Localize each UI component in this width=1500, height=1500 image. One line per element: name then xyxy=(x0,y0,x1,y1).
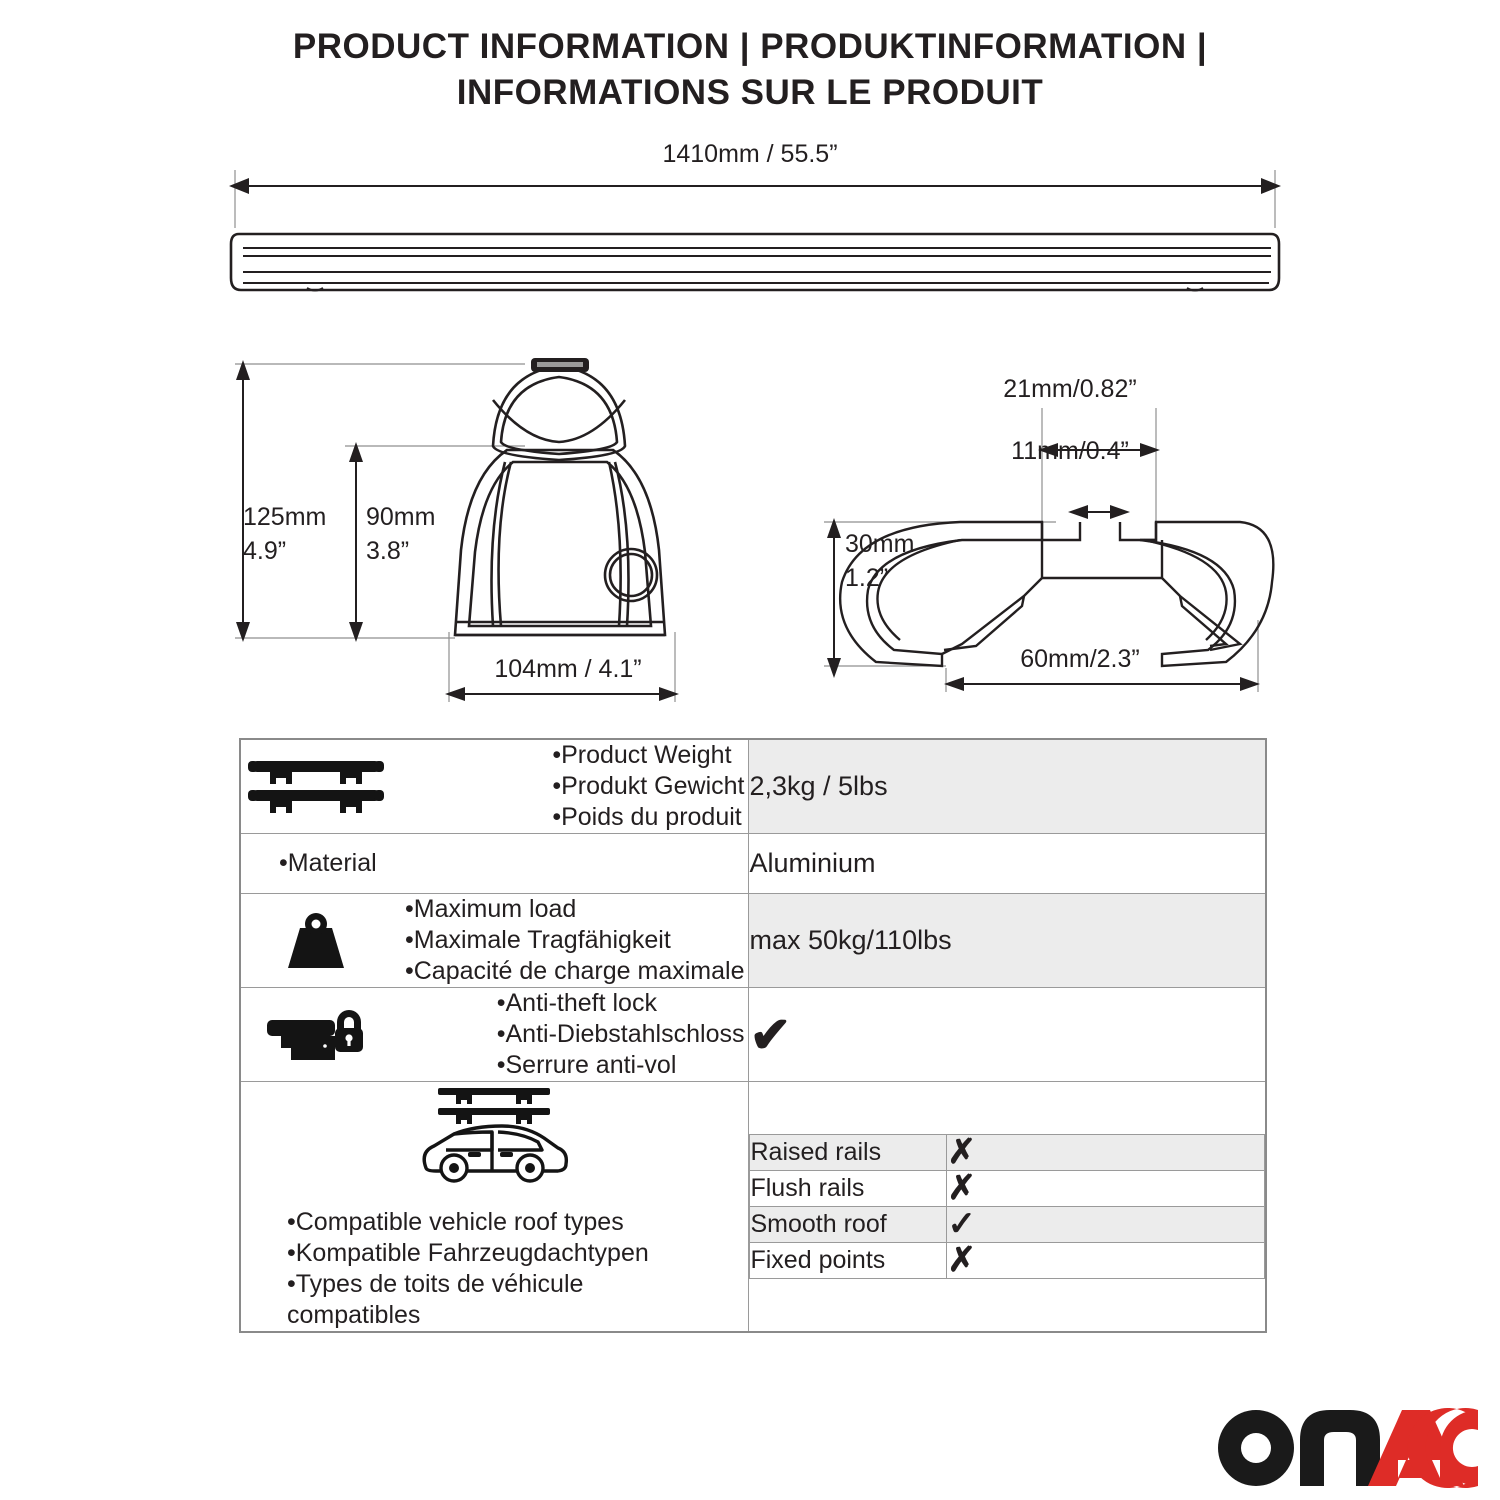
anti-theft-label-cell: •Anti-theft lock •Anti-Diebstahlschloss … xyxy=(240,988,749,1082)
vehicle-roof-bullets: •Compatible vehicle roof types •Kompatib… xyxy=(241,1207,653,1331)
bullet-item: •Anti-theft lock xyxy=(497,988,745,1019)
table-row: •Compatible vehicle roof types •Kompatib… xyxy=(240,1082,1266,1333)
bullet-item: •Types de toits de véhicule xyxy=(287,1269,649,1300)
check-mark-icon: ✔ xyxy=(749,1007,791,1063)
car-with-roofbars-icon xyxy=(410,1082,580,1195)
bullet-item: •Anti-Diebstahlschloss xyxy=(497,1019,745,1050)
roof-type-row: Flush rails ✗ xyxy=(750,1171,1265,1207)
table-row: •Material Aluminium xyxy=(240,834,1266,894)
bullet-item: •Capacité de charge maximale xyxy=(405,956,744,987)
roof-type-name: Flush rails xyxy=(750,1171,947,1207)
bullet-item: •Maximale Tragfähigkeit xyxy=(405,925,744,956)
cross-mark-icon: ✗ xyxy=(947,1241,976,1279)
product-weight-label-cell: •Product Weight •Produkt Gewicht •Poids … xyxy=(240,739,749,834)
roof-type-row: Fixed points ✗ xyxy=(750,1243,1265,1279)
max-load-value: max 50kg/110lbs xyxy=(749,894,1266,988)
roof-type-value: ✗ xyxy=(947,1243,1265,1279)
title-line-1: PRODUCT INFORMATION | PRODUKTINFORMATION… xyxy=(0,24,1500,70)
roof-type-value: ✓ xyxy=(947,1207,1265,1243)
lock-icon xyxy=(241,1004,391,1066)
bullet-item: •Serrure anti-vol xyxy=(497,1050,745,1081)
roof-bar-side-view-diagram xyxy=(225,168,1285,313)
bullet-item: •Kompatible Fahrzeugdachtypen xyxy=(287,1238,649,1269)
table-row: •Maximum load •Maximale Tragfähigkeit •C… xyxy=(240,894,1266,988)
title-line-2: INFORMATIONS SUR LE PRODUIT xyxy=(0,70,1500,116)
roof-type-row: Smooth roof ✓ xyxy=(750,1207,1265,1243)
anti-theft-value: ✔ xyxy=(749,988,1266,1082)
bar-cross-section-diagram xyxy=(810,400,1300,700)
roof-bars-icon xyxy=(241,757,391,817)
bullet-item: •Poids du produit xyxy=(552,802,744,833)
roof-types-subtable-cell: Raised rails ✗ Flush rails ✗ Smooth roof… xyxy=(749,1082,1266,1333)
weight-icon xyxy=(241,910,391,972)
roof-type-name: Raised rails xyxy=(750,1135,947,1171)
material-value: Aluminium xyxy=(749,834,1266,894)
roof-type-row: Raised rails ✗ xyxy=(750,1135,1265,1171)
bullet-item: compatibles xyxy=(287,1300,649,1331)
roof-type-value: ✗ xyxy=(947,1171,1265,1207)
bullet-item: •Product Weight xyxy=(552,740,744,771)
spec-table: •Product Weight •Produkt Gewicht •Poids … xyxy=(239,738,1267,1333)
check-mark-icon: ✓ xyxy=(947,1205,976,1243)
cross-mark-icon: ✗ xyxy=(947,1133,976,1171)
table-row: •Anti-theft lock •Anti-Diebstahlschloss … xyxy=(240,988,1266,1082)
bullet-item: •Material xyxy=(279,848,744,879)
bar-length-label: 1410mm / 55.5” xyxy=(560,140,940,169)
roof-type-value: ✗ xyxy=(947,1135,1265,1171)
page-title: PRODUCT INFORMATION | PRODUKTINFORMATION… xyxy=(0,24,1500,116)
cross-mark-icon: ✗ xyxy=(947,1169,976,1207)
roof-types-subtable: Raised rails ✗ Flush rails ✗ Smooth roof… xyxy=(749,1134,1265,1279)
max-load-label-cell: •Maximum load •Maximale Tragfähigkeit •C… xyxy=(240,894,749,988)
bullet-item: •Produkt Gewicht xyxy=(552,771,744,802)
omac-logo xyxy=(1216,1408,1478,1493)
material-label-cell: •Material xyxy=(240,834,749,894)
bullet-item: •Maximum load xyxy=(405,894,744,925)
bullet-item: •Compatible vehicle roof types xyxy=(287,1207,649,1238)
foot-front-view-diagram xyxy=(225,350,725,710)
roof-type-name: Fixed points xyxy=(750,1243,947,1279)
table-row: •Product Weight •Produkt Gewicht •Poids … xyxy=(240,739,1266,834)
product-weight-value: 2,3kg / 5lbs xyxy=(749,739,1266,834)
roof-type-name: Smooth roof xyxy=(750,1207,947,1243)
vehicle-roof-types-label-cell: •Compatible vehicle roof types •Kompatib… xyxy=(240,1082,749,1333)
